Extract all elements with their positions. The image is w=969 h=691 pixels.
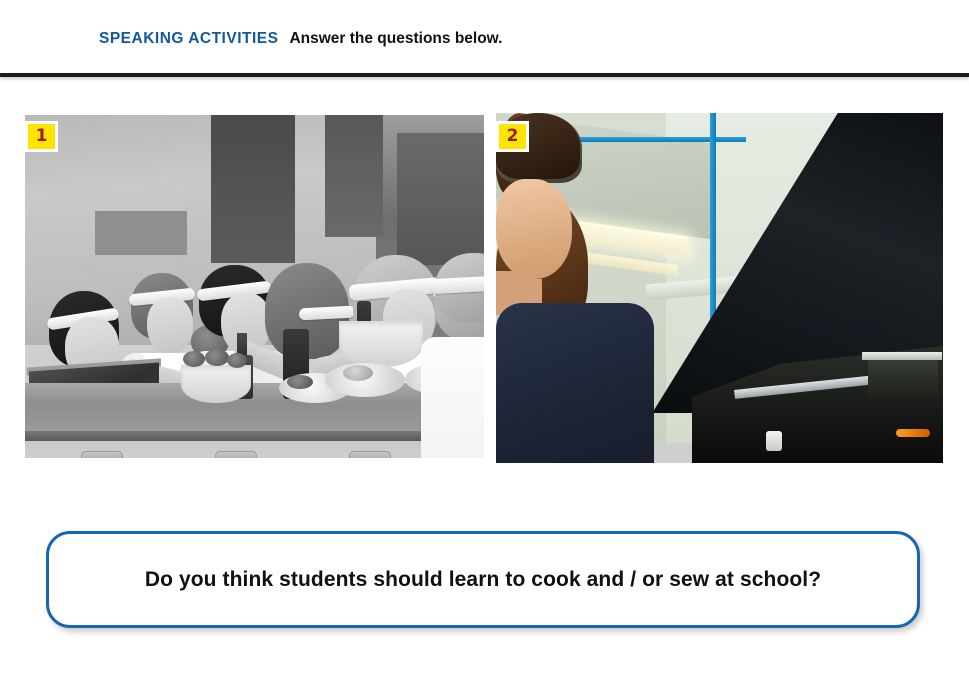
mixing-bowl-small [181,365,251,403]
page-header: SPEAKING ACTIVITIES Answer the questions… [99,30,502,48]
header-kicker: SPEAKING ACTIVITIES [99,30,278,48]
drawer-handle-1 [81,451,123,458]
question-text: Do you think students should learn to co… [119,568,847,592]
indicator-lamp [896,429,930,437]
header-divider [0,73,969,77]
header-instruction: Answer the questions below. [289,30,502,48]
car-battery [868,357,938,399]
kitchen-wall-cabinet [397,133,484,265]
plate-food-1 [287,375,313,389]
student-2-face [147,297,193,355]
male-chest-pocket-left [792,331,828,361]
student-mechanic-male [496,113,654,463]
mixing-bowl-large [339,321,423,367]
kitchen-counter [25,383,484,435]
food-item-3 [227,353,247,368]
photo-2-canvas [496,113,943,463]
kitchen-counter-edge [25,431,484,441]
photo-1-canvas [25,115,484,458]
photo-1-cookery-class: 1 [25,115,484,458]
male-neck [496,271,536,303]
drawer-handle-2 [215,451,257,458]
male-navy-overalls [496,303,654,463]
photo-2-number: 2 [507,128,519,145]
drawer-handle-3 [349,451,391,458]
photo-2-auto-workshop: 2 [496,113,943,463]
kitchen-doorway-second [325,115,383,237]
food-item-2 [205,349,229,366]
plate-food-2 [343,365,373,381]
photo-1-number-badge: 1 [25,121,58,152]
food-item-1 [183,351,205,367]
car-battery-top [862,352,942,360]
photo-1-number: 1 [36,128,48,145]
kitchen-shelf [95,211,187,255]
student-foreground-apron [421,337,484,458]
kitchen-doorway [211,115,295,263]
question-box: Do you think students should learn to co… [46,531,920,628]
photo-2-number-badge: 2 [496,121,529,152]
fluid-reservoir-cap [766,431,782,451]
male-face [496,179,566,271]
